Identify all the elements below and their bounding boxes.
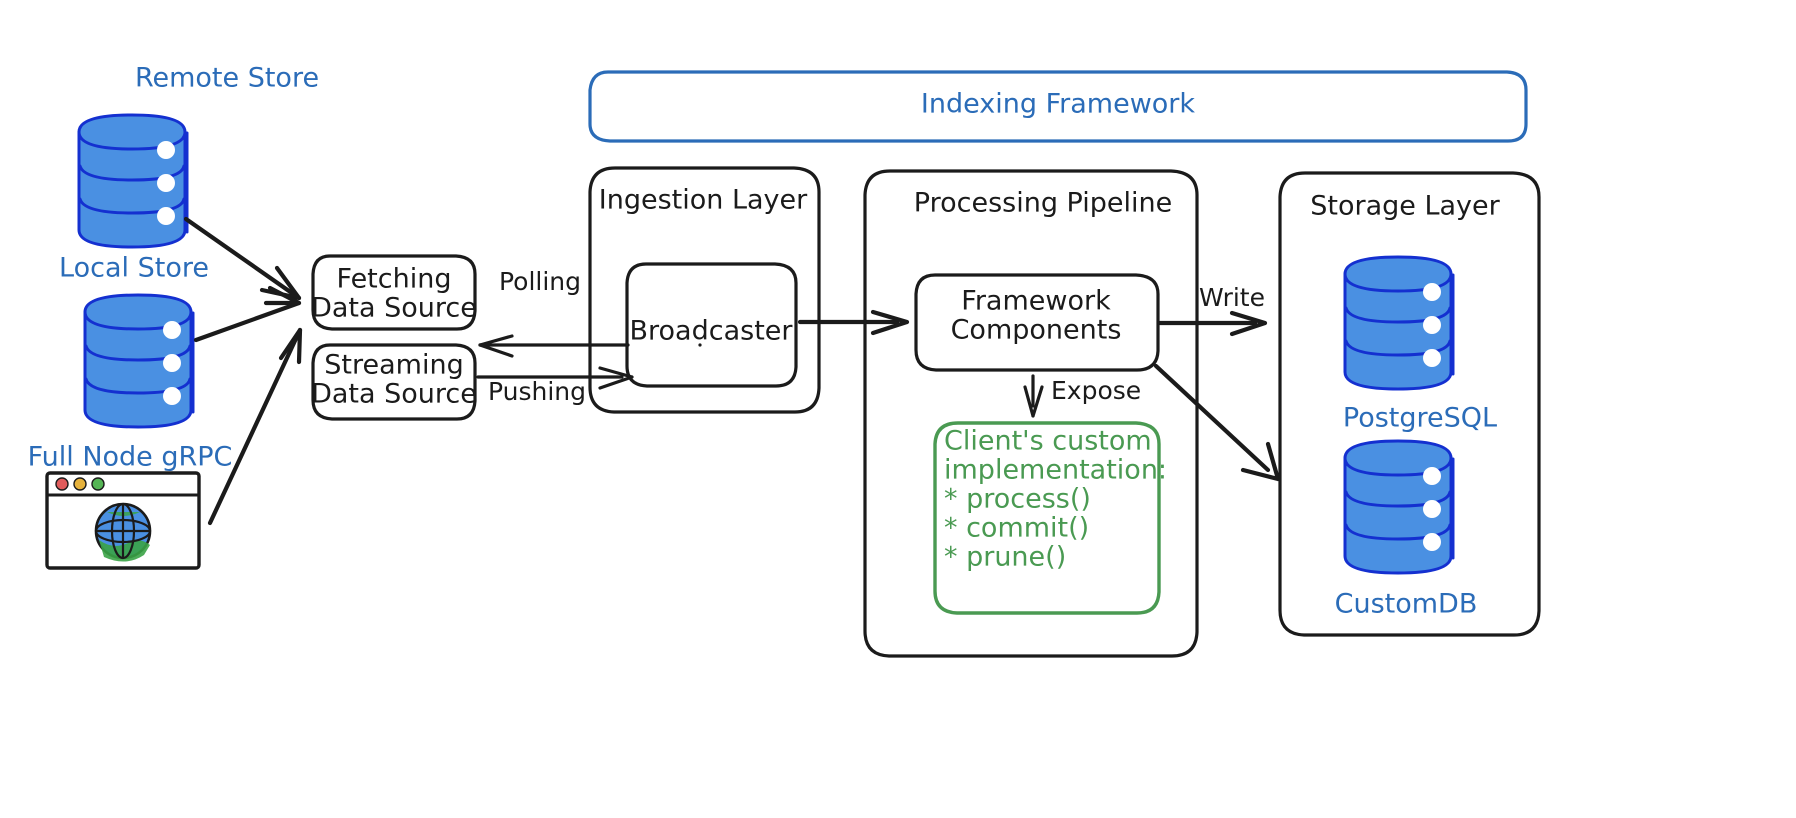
ingestion-layer-label: Ingestion Layer [599, 185, 808, 216]
broadcaster-label: Broadcaster [630, 316, 794, 347]
client-custom-implementation-box[interactable]: Client's custom implementation: * proces… [935, 423, 1167, 613]
streaming-data-source-line1: Streaming [324, 350, 463, 381]
customdb-db: CustomDB [1335, 441, 1478, 620]
pushing-edge: Pushing [478, 368, 632, 406]
customdb-label: CustomDB [1335, 589, 1478, 620]
polling-label: Polling [499, 267, 581, 296]
framework-components-line1: Framework [961, 286, 1111, 317]
indexing-framework-banner: Indexing Framework [590, 72, 1526, 141]
broadcaster-to-framework-edge [800, 312, 907, 333]
database-cylinder-icon [1345, 257, 1453, 389]
framework-to-customdb-edge [1156, 366, 1278, 479]
source-local-store: Local Store [59, 253, 209, 428]
fetching-data-source-line1: Fetching [337, 264, 452, 295]
postgresql-label: PostgreSQL [1343, 403, 1497, 434]
expose-edge: Expose [1025, 376, 1141, 416]
database-cylinder-icon [79, 115, 187, 247]
group-processing-pipeline: Processing Pipeline Framework Components… [865, 171, 1197, 656]
group-storage-layer: Storage Layer PostgreSQL [1280, 173, 1539, 635]
globe-icon [96, 504, 150, 562]
framework-components-line2: Components [951, 315, 1122, 346]
database-cylinder-icon [85, 295, 193, 427]
processing-pipeline-label: Processing Pipeline [914, 188, 1172, 219]
custom-impl-line-2: implementation: [944, 455, 1167, 486]
fetching-data-source-box[interactable]: Fetching Data Source [311, 256, 477, 329]
storage-layer-label: Storage Layer [1310, 191, 1500, 222]
streaming-data-source-line2: Data Source [311, 379, 477, 410]
custom-impl-line-1: Client's custom [944, 426, 1152, 457]
local-store-label: Local Store [59, 253, 209, 284]
source-full-node-grpc: Full Node gRPC [28, 442, 233, 569]
architecture-diagram: Indexing Framework Remote Store Local St… [0, 0, 1796, 818]
source-remote-store: Remote Store [79, 63, 319, 248]
broadcaster-box[interactable]: Broadcaster [627, 264, 796, 386]
expose-label: Expose [1051, 376, 1141, 405]
streaming-data-source-box[interactable]: Streaming Data Source [311, 345, 477, 419]
postgresql-db: PostgreSQL [1343, 257, 1497, 434]
remote-store-label: Remote Store [135, 63, 319, 94]
write-label: Write [1199, 283, 1265, 312]
browser-window-globe-icon [47, 473, 199, 568]
custom-impl-line-5: * prune() [944, 542, 1066, 573]
framework-components-box[interactable]: Framework Components [916, 275, 1158, 370]
custom-impl-line-4: * commit() [944, 513, 1089, 544]
diagram-canvas: Indexing Framework Remote Store Local St… [0, 0, 1796, 818]
database-cylinder-icon [1345, 441, 1453, 573]
full-node-grpc-label: Full Node gRPC [28, 442, 233, 473]
pushing-label: Pushing [488, 377, 586, 406]
write-edge: Write [1160, 283, 1265, 334]
banner-label: Indexing Framework [921, 89, 1195, 120]
fetching-data-source-line2: Data Source [311, 293, 477, 324]
custom-impl-line-3: * process() [944, 484, 1091, 515]
